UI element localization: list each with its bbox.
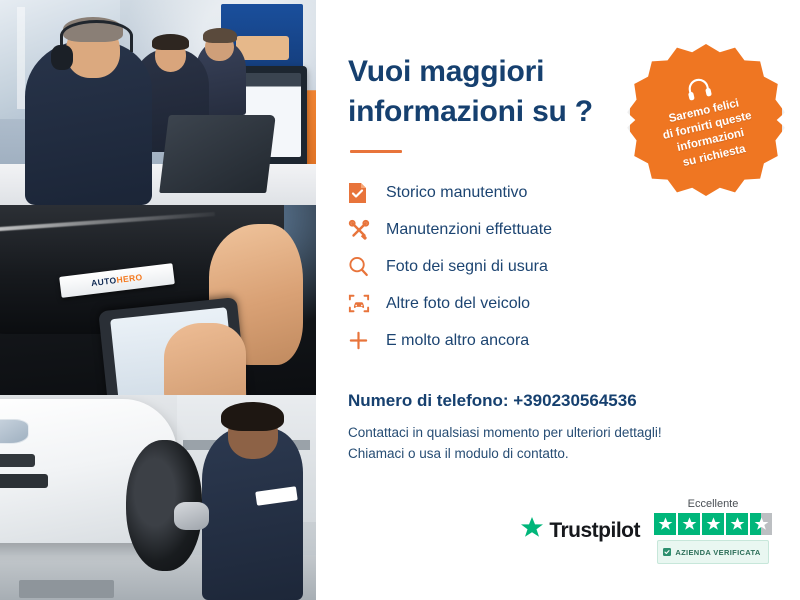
feature-list: Storico manutentivo Manutenzioni effettu… [348, 175, 770, 359]
trustpilot-logo[interactable]: Trustpilot [520, 517, 640, 545]
list-item: Foto dei segni di usura [348, 249, 770, 285]
mechanic-glove [174, 502, 209, 531]
contact-note: Contattaci in qualsiasi momento per ulte… [348, 423, 770, 465]
feature-label: E molto altro ancora [376, 332, 529, 350]
verified-label: AZIENDA VERIFICATA [675, 548, 760, 557]
star-4 [726, 513, 748, 535]
star-3 [702, 513, 724, 535]
photo-column: AUTOHERO [0, 0, 316, 600]
phone-number-label: Numero di telefono: +390230564536 [348, 391, 770, 411]
autohero-logo-auto: AUTO [91, 275, 118, 288]
rating-label: Eccellente [688, 498, 739, 510]
car-lower-grille [0, 474, 48, 488]
list-item: Altre foto del veicolo [348, 286, 770, 322]
trustpilot-rating: Eccellente [654, 498, 772, 564]
headline-line-2: informazioni su ? [348, 95, 593, 128]
car-headlight [0, 419, 29, 444]
headline-line-1: Vuoi maggiori [348, 55, 544, 88]
content-panel: Vuoi maggiori informazioni su ? Storico … [316, 0, 800, 600]
verified-check-icon [663, 543, 671, 561]
contact-note-line-2: Chiamaci o usa il modulo di contatto. [348, 444, 770, 465]
contact-block: Numero di telefono: +390230564536 Contat… [348, 391, 770, 465]
agent-2-head [155, 39, 187, 72]
trustpilot-widget[interactable]: Trustpilot Eccellente [520, 498, 772, 564]
agent-3-head [205, 33, 233, 62]
magnifier-icon [348, 255, 376, 279]
car-photo-frame-icon [348, 292, 376, 316]
info-on-request-badge: Saremo felici di fornirti queste informa… [630, 44, 782, 196]
plus-icon [348, 329, 376, 353]
mechanic-head [228, 411, 279, 458]
tools-wrench-screwdriver-icon [348, 218, 376, 242]
trustpilot-star-icon [520, 517, 544, 545]
inspector-hand-left [164, 323, 246, 395]
trustpilot-wordmark: Trustpilot [549, 519, 640, 543]
feature-label: Foto dei segni di usura [376, 258, 548, 276]
list-item: E molto altro ancora [348, 323, 770, 359]
laptop [160, 115, 277, 193]
call-center-agents-photo [0, 0, 316, 205]
car-lift-arm [19, 580, 114, 598]
agent-1-headset-earcup [51, 45, 73, 70]
star-5-half [750, 513, 772, 535]
star-2 [678, 513, 700, 535]
car-grille [0, 454, 35, 467]
list-item: Manutenzioni effettuate [348, 212, 770, 248]
promo-banner: AUTOHERO Vuoi maggio [0, 0, 800, 600]
clipboard-check-icon [348, 181, 376, 205]
star-rating [654, 513, 772, 535]
feature-label: Storico manutentivo [376, 184, 527, 202]
contact-note-line-1: Contattaci in qualsiasi momento per ulte… [348, 423, 770, 444]
title-divider [350, 150, 402, 153]
mechanic-wheel-inspection-photo [0, 395, 316, 600]
feature-label: Manutenzioni effettuate [376, 221, 552, 239]
star-1 [654, 513, 676, 535]
page-title: Vuoi maggiori informazioni su ? [348, 52, 618, 132]
autohero-logo-hero: HERO [116, 272, 143, 285]
feature-label: Altre foto del veicolo [376, 295, 530, 313]
agent-1-head [66, 23, 120, 78]
vehicle-inspection-autohero-ruler-photo: AUTOHERO [0, 205, 316, 395]
autohero-logo: AUTOHERO [91, 272, 144, 288]
verified-business-badge: AZIENDA VERIFICATA [657, 540, 768, 564]
